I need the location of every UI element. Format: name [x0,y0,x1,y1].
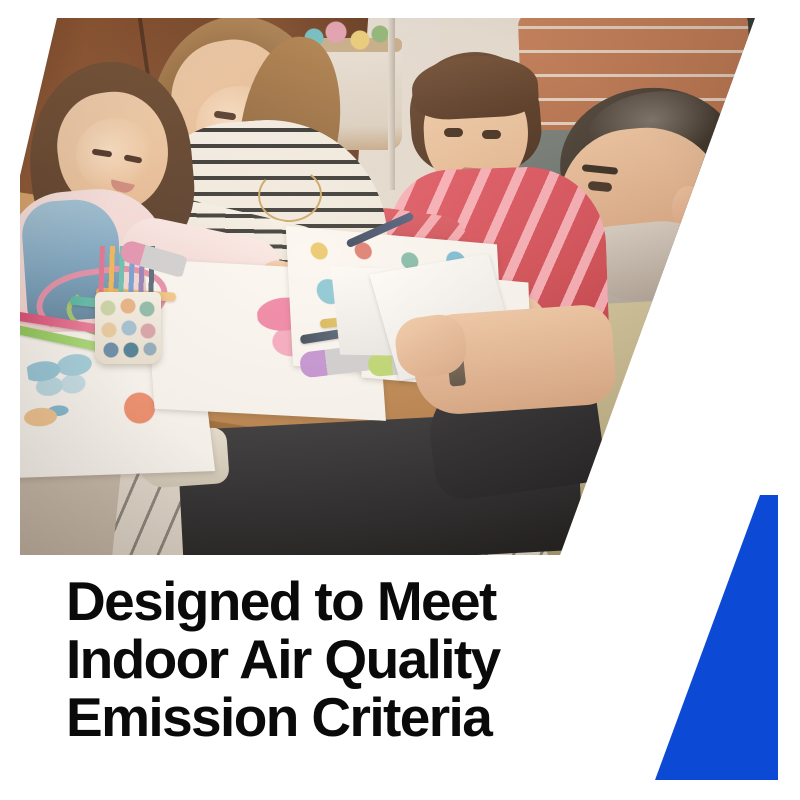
floor-lamp-stand [388,0,395,190]
photo-scene [0,0,800,600]
page-title: Designed to Meet Indoor Air Quality Emis… [66,572,666,746]
blue-butterfly-drawing [25,348,96,401]
polka-dot-pen-cup [95,292,161,364]
family-crafting-photo [0,0,800,600]
headline-line-1: Designed to Meet [66,572,666,630]
boy-eye-left [444,128,463,137]
boy-eye-right [482,130,501,139]
bird-drawing [17,396,75,434]
poster-canvas: Designed to Meet Indoor Air Quality Emis… [0,0,800,800]
pen-cup-pattern [95,292,161,364]
headline-line-2: Indoor Air Quality [66,630,666,688]
headline-line-3: Emission Criteria [66,688,666,746]
